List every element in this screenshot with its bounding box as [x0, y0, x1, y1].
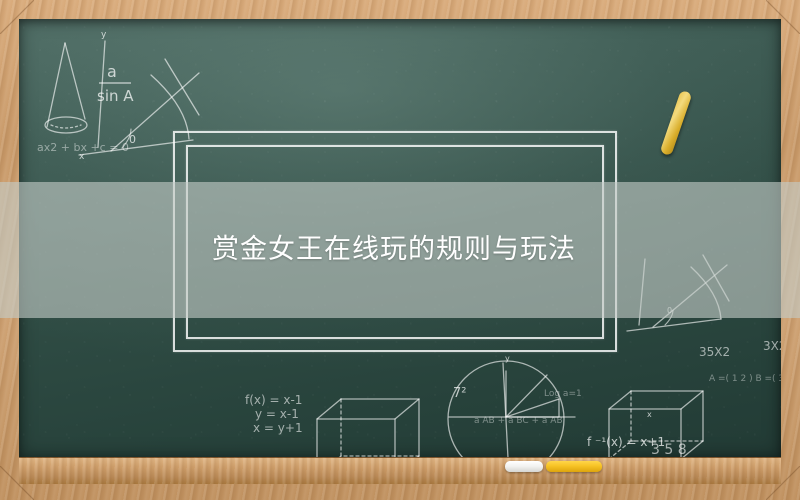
yellow-chalk	[546, 461, 602, 472]
cone-drawing	[45, 43, 87, 133]
svg-text:sin A: sin A	[97, 87, 134, 105]
label-matrix-3x2: 3X2	[763, 339, 781, 353]
label-triangle-sides: a AB + a BC + a AB	[474, 416, 563, 426]
chalk-tray	[19, 457, 781, 484]
svg-text:f(x) = x-1: f(x) = x-1	[245, 393, 302, 407]
page-title: 赏金女王在线玩的规则与玩法	[212, 234, 576, 266]
label-column-addition: 3 5 8 2 7 9 6 3 7	[647, 442, 705, 457]
screenshot-root: a sin A . y x 0 ax2 + bx +c = 0 0	[0, 0, 800, 500]
label-angle-top: 0	[129, 133, 136, 146]
svg-text:x = y+1: x = y+1	[253, 421, 303, 435]
label-axis-y-bottom: y	[505, 354, 510, 363]
label-log-a: Log a=1	[544, 389, 582, 399]
circle-sector-diagram	[448, 361, 575, 457]
label-seven-squared: 7²	[453, 386, 466, 401]
label-matrix-35x2: 35X2	[699, 345, 730, 359]
label-matrix-rows: A =( 1 2 ) B =( 3 1 ) C =( 2 3 )	[709, 374, 781, 384]
label-quadratic: ax2 + bx +c = 0	[37, 141, 129, 154]
label-function-block: f(x) = x-1 y = x-1 x = y+1	[245, 393, 303, 435]
svg-text:y = x-1: y = x-1	[255, 407, 299, 421]
title-overlay-band: 赏金女王在线玩的规则与玩法	[0, 182, 800, 318]
label-axis-y-top: y	[101, 30, 107, 40]
label-axis-x-bottom: x	[647, 410, 652, 419]
cube-wireframe-left	[317, 399, 419, 457]
white-chalk	[505, 461, 543, 472]
svg-text:3 5 8: 3 5 8	[651, 442, 687, 457]
